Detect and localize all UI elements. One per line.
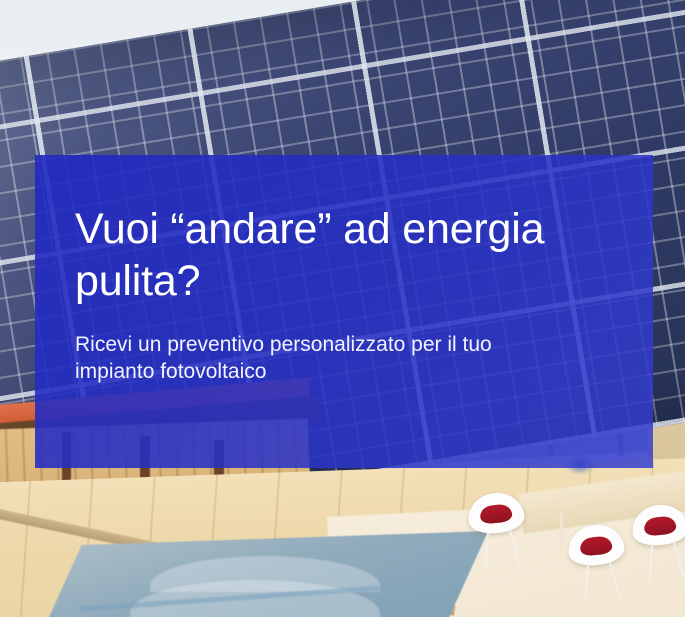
hero-banner: Vuoi “andare” ad energia pulita? Ricevi … (0, 0, 685, 617)
table-leg (560, 512, 563, 556)
hero-subtitle: Ricevi un preventivo personalizzato per … (75, 307, 629, 385)
hero-title: Vuoi “andare” ad energia pulita? (75, 203, 629, 307)
hero-text-block: Vuoi “andare” ad energia pulita? Ricevi … (75, 203, 629, 385)
hero-overlay-panel: Vuoi “andare” ad energia pulita? Ricevi … (35, 155, 653, 468)
